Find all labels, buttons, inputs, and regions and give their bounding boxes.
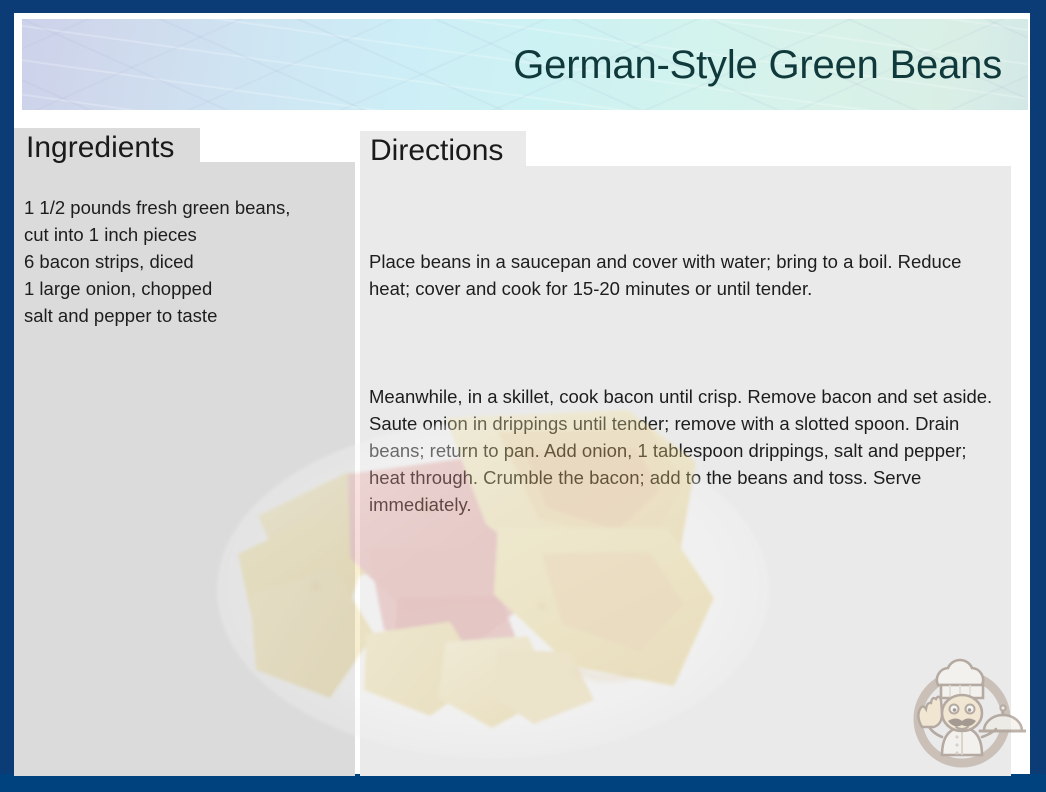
frame-border-left [0, 0, 14, 792]
frame-border-right [1030, 0, 1046, 792]
page-title: German-Style Green Beans [513, 44, 1002, 86]
header-banner: German-Style Green Beans [22, 19, 1028, 110]
directions-paragraph-2: Meanwhile, in a skillet, cook bacon unti… [369, 383, 1001, 518]
serving-dome-icon [980, 705, 1026, 731]
chef-mascot-logo [898, 645, 1026, 773]
ingredients-heading: Ingredients [26, 133, 174, 163]
chef-hat-icon [937, 660, 983, 698]
directions-paragraph-1: Place beans in a saucepan and cover with… [369, 248, 1001, 302]
chef-face [942, 695, 982, 731]
directions-heading: Directions [370, 136, 503, 166]
recipe-card-slide: German-Style Green Beans Ingredients 1 1… [0, 0, 1046, 792]
directions-text: Place beans in a saucepan and cover with… [369, 194, 1001, 572]
ingredients-list: 1 1/2 pounds fresh green beans, cut into… [24, 194, 344, 329]
frame-border-top [0, 0, 1046, 13]
frame-border-bottom [0, 774, 1046, 792]
